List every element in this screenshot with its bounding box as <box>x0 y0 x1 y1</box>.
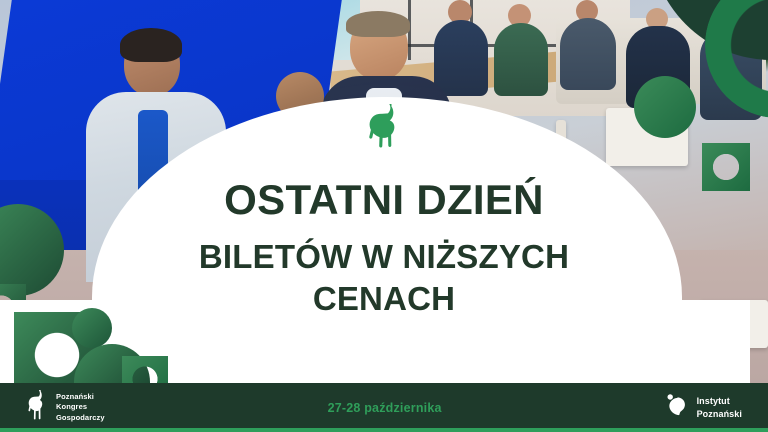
logo-left-line-2: Kongres <box>56 402 105 413</box>
logo-left-line-3: Gospodarczy <box>56 413 105 424</box>
logo-right-line-1: Instytut <box>697 395 742 407</box>
logo-right-line-2: Poznański <box>697 408 742 420</box>
logo-left-line-1: Poznański <box>56 392 105 403</box>
logo-left-text: Poznański Kongres Gospodarczy <box>56 392 105 424</box>
logo-right-text: Instytut Poznański <box>697 395 742 419</box>
page-subtitle-line-2: CENACH <box>0 278 768 320</box>
event-date: 27-28 października <box>328 401 442 415</box>
logo-poznanski-kongres-gospodarczy[interactable]: Poznański Kongres Gospodarczy <box>26 390 105 425</box>
footer-accent-strip <box>0 428 768 432</box>
footer-bar: Poznański Kongres Gospodarczy 27-28 paźd… <box>0 383 768 432</box>
blob-dot-icon <box>665 393 689 422</box>
goat-icon <box>361 104 407 148</box>
page-subtitle: BILETÓW W NIŻSZYCH CENACH <box>0 236 768 320</box>
promo-banner: OSTATNI DZIEŃ BILETÓW W NIŻSZYCH CENACH … <box>0 0 768 432</box>
page-title: OSTATNI DZIEŃ <box>0 178 768 222</box>
logo-instytut-poznanski[interactable]: Instytut Poznański <box>665 393 742 422</box>
goat-icon <box>26 390 48 425</box>
headline-block: OSTATNI DZIEŃ BILETÓW W NIŻSZYCH CENACH <box>0 178 768 321</box>
banner-content: OSTATNI DZIEŃ BILETÓW W NIŻSZYCH CENACH <box>0 0 768 383</box>
page-subtitle-line-1: BILETÓW W NIŻSZYCH <box>0 236 768 278</box>
